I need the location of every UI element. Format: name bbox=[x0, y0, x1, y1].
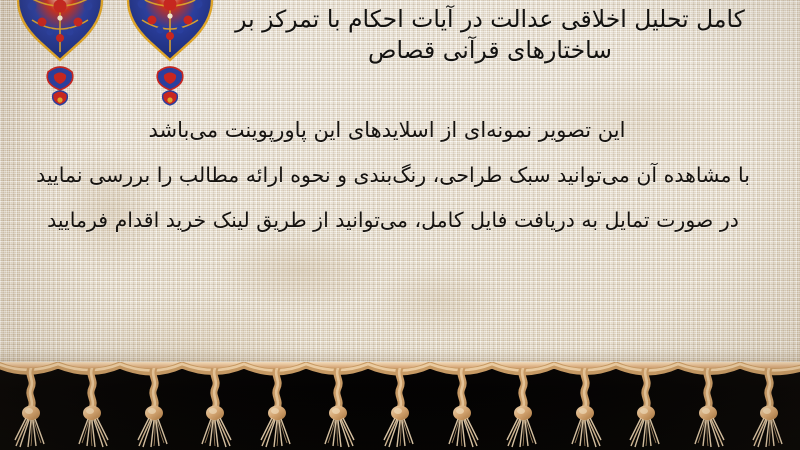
fringe-tassel bbox=[69, 368, 115, 448]
persian-medallion-ornament-left bbox=[8, 0, 112, 112]
fringe-tassel bbox=[192, 368, 238, 448]
fringe-tassel bbox=[500, 368, 546, 448]
fringe-tassel bbox=[623, 368, 669, 448]
slide-title: کامل تحلیل اخلاقی عدالت در آیات احکام با… bbox=[190, 4, 790, 66]
fringe-tassel bbox=[8, 368, 54, 448]
body-line-1: این تصویر نمونه‌ای از اسلایدهای این پاور… bbox=[0, 108, 792, 153]
knotted-tassel-fringe bbox=[0, 362, 800, 450]
slide-body: این تصویر نمونه‌ای از اسلایدهای این پاور… bbox=[0, 108, 792, 243]
fringe-tassel bbox=[746, 368, 792, 448]
fringe-tassel bbox=[377, 368, 423, 448]
fringe-tassel bbox=[685, 368, 731, 448]
title-line-2: ساختارهای قرآنی قصاص bbox=[190, 35, 790, 66]
slide-canvas: کامل تحلیل اخلاقی عدالت در آیات احکام با… bbox=[0, 0, 800, 450]
title-line-1: کامل تحلیل اخلاقی عدالت در آیات احکام با… bbox=[190, 4, 790, 35]
fringe-tassel bbox=[562, 368, 608, 448]
fringe-tassel bbox=[254, 368, 300, 448]
body-line-2: با مشاهده آن می‌توانید سبک طراحی، رنگ‌بن… bbox=[0, 153, 792, 198]
body-line-3: در صورت تمایل به دریافت فایل کامل، می‌تو… bbox=[0, 198, 792, 243]
fringe-tassel bbox=[315, 368, 361, 448]
fringe-tassel bbox=[131, 368, 177, 448]
fringe-tassel bbox=[439, 368, 485, 448]
